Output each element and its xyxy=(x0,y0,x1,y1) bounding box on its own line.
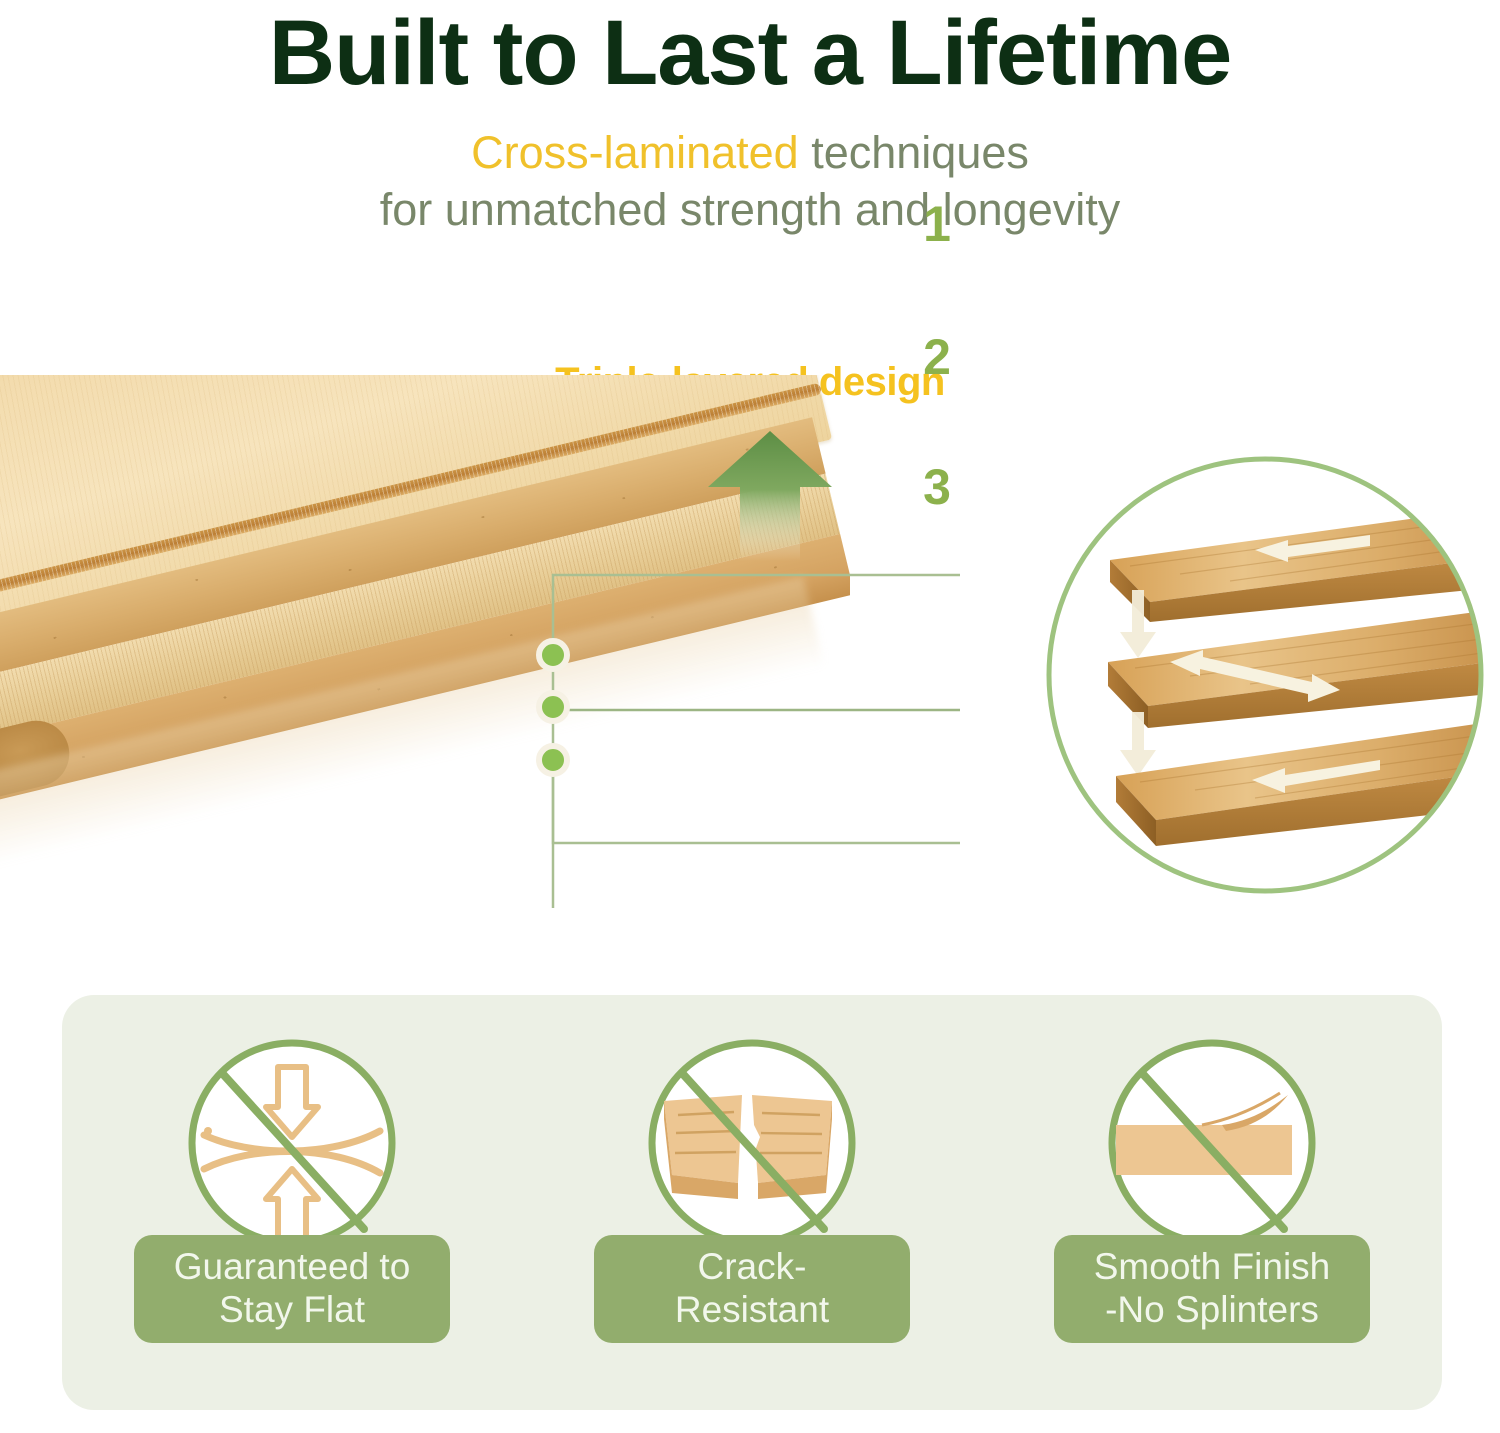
layer-dot-3 xyxy=(536,743,570,777)
features-row: Guaranteed toStay Flat xyxy=(62,995,1442,1410)
layer-dot-2 xyxy=(536,690,570,724)
feature-label-line2: -No Splinters xyxy=(1105,1289,1319,1330)
feature-label-guaranteed-flat: Guaranteed toStay Flat xyxy=(134,1235,450,1343)
subtitle-highlight: Cross-laminated xyxy=(471,127,799,178)
subtitle-rest: techniques xyxy=(799,127,1029,178)
feature-label-smooth-finish: Smooth Finish-No Splinters xyxy=(1054,1235,1370,1343)
up-arrow-icon xyxy=(700,425,840,565)
subtitle-line-2: for unmatched strength and longevity xyxy=(0,182,1500,238)
cross-laminated-layers-inset xyxy=(1040,450,1490,900)
no-warp-icon xyxy=(182,1033,402,1253)
header-block: Built to Last a Lifetime Cross-laminated… xyxy=(0,0,1500,238)
page-title: Built to Last a Lifetime xyxy=(0,4,1500,103)
no-crack-icon xyxy=(642,1033,862,1253)
feature-label-crack-resistant: Crack-Resistant xyxy=(594,1235,910,1343)
feature-label-line2: Resistant xyxy=(675,1289,829,1330)
layer-dot-1 xyxy=(536,638,570,672)
subtitle: Cross-laminated techniques for unmatched… xyxy=(0,125,1500,238)
feature-label-line1: Smooth Finish xyxy=(1094,1246,1331,1287)
features-panel: Guaranteed toStay Flat xyxy=(62,995,1442,1410)
no-splinters-icon xyxy=(1102,1033,1322,1253)
feature-label-line2: Stay Flat xyxy=(219,1289,365,1330)
feature-smooth-finish: Smooth Finish-No Splinters xyxy=(1047,1033,1377,1343)
feature-guaranteed-flat: Guaranteed toStay Flat xyxy=(127,1033,457,1343)
feature-label-line1: Crack- xyxy=(698,1246,807,1287)
subtitle-line-1: Cross-laminated techniques xyxy=(0,125,1500,181)
feature-label-line1: Guaranteed to xyxy=(174,1246,411,1287)
feature-crack-resistant: Crack-Resistant xyxy=(587,1033,917,1343)
